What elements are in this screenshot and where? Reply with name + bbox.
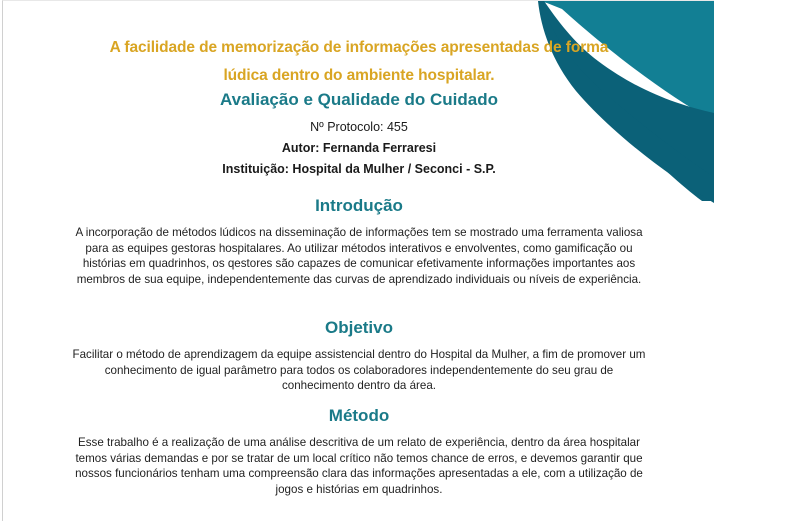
section-objetivo: Objetivo Facilitar o método de aprendiza… — [31, 316, 687, 394]
section-heading-objetivo: Objetivo — [31, 316, 687, 340]
section-body-objetivo: Facilitar o método de aprendizagem da eq… — [70, 347, 648, 394]
section-body-metodo: Esse trabalho é a realização de uma anál… — [70, 435, 648, 497]
section-heading-metodo: Método — [31, 404, 687, 428]
author-name: Autor: Fernanda Ferraresi — [59, 138, 659, 159]
slide-canvas: A facilidade de memorização de informaçõ… — [2, 0, 714, 521]
protocol-number: Nº Protocolo: 455 — [59, 117, 659, 138]
poster-root: A facilidade de memorização de informaçõ… — [0, 0, 793, 521]
poster-title-line-1: A facilidade de memorização de informaçõ… — [59, 34, 659, 62]
poster-content: A facilidade de memorização de informaçõ… — [3, 1, 714, 521]
institution-name: Instituição: Hospital da Mulher / Seconc… — [59, 159, 659, 180]
section-body-introducao: A incorporação de métodos lúdicos na dis… — [70, 225, 648, 287]
section-introducao: Introdução A incorporação de métodos lúd… — [31, 194, 687, 287]
poster-title: A facilidade de memorização de informaçõ… — [59, 34, 659, 90]
poster-subtitle: Avaliação e Qualidade do Cuidado — [59, 89, 659, 111]
poster-title-line-2: lúdica dentro do ambiente hospitalar. — [59, 62, 659, 90]
section-heading-introducao: Introdução — [31, 194, 687, 218]
section-metodo: Método Esse trabalho é a realização de u… — [31, 404, 687, 497]
poster-metadata: Nº Protocolo: 455 Autor: Fernanda Ferrar… — [59, 117, 659, 180]
